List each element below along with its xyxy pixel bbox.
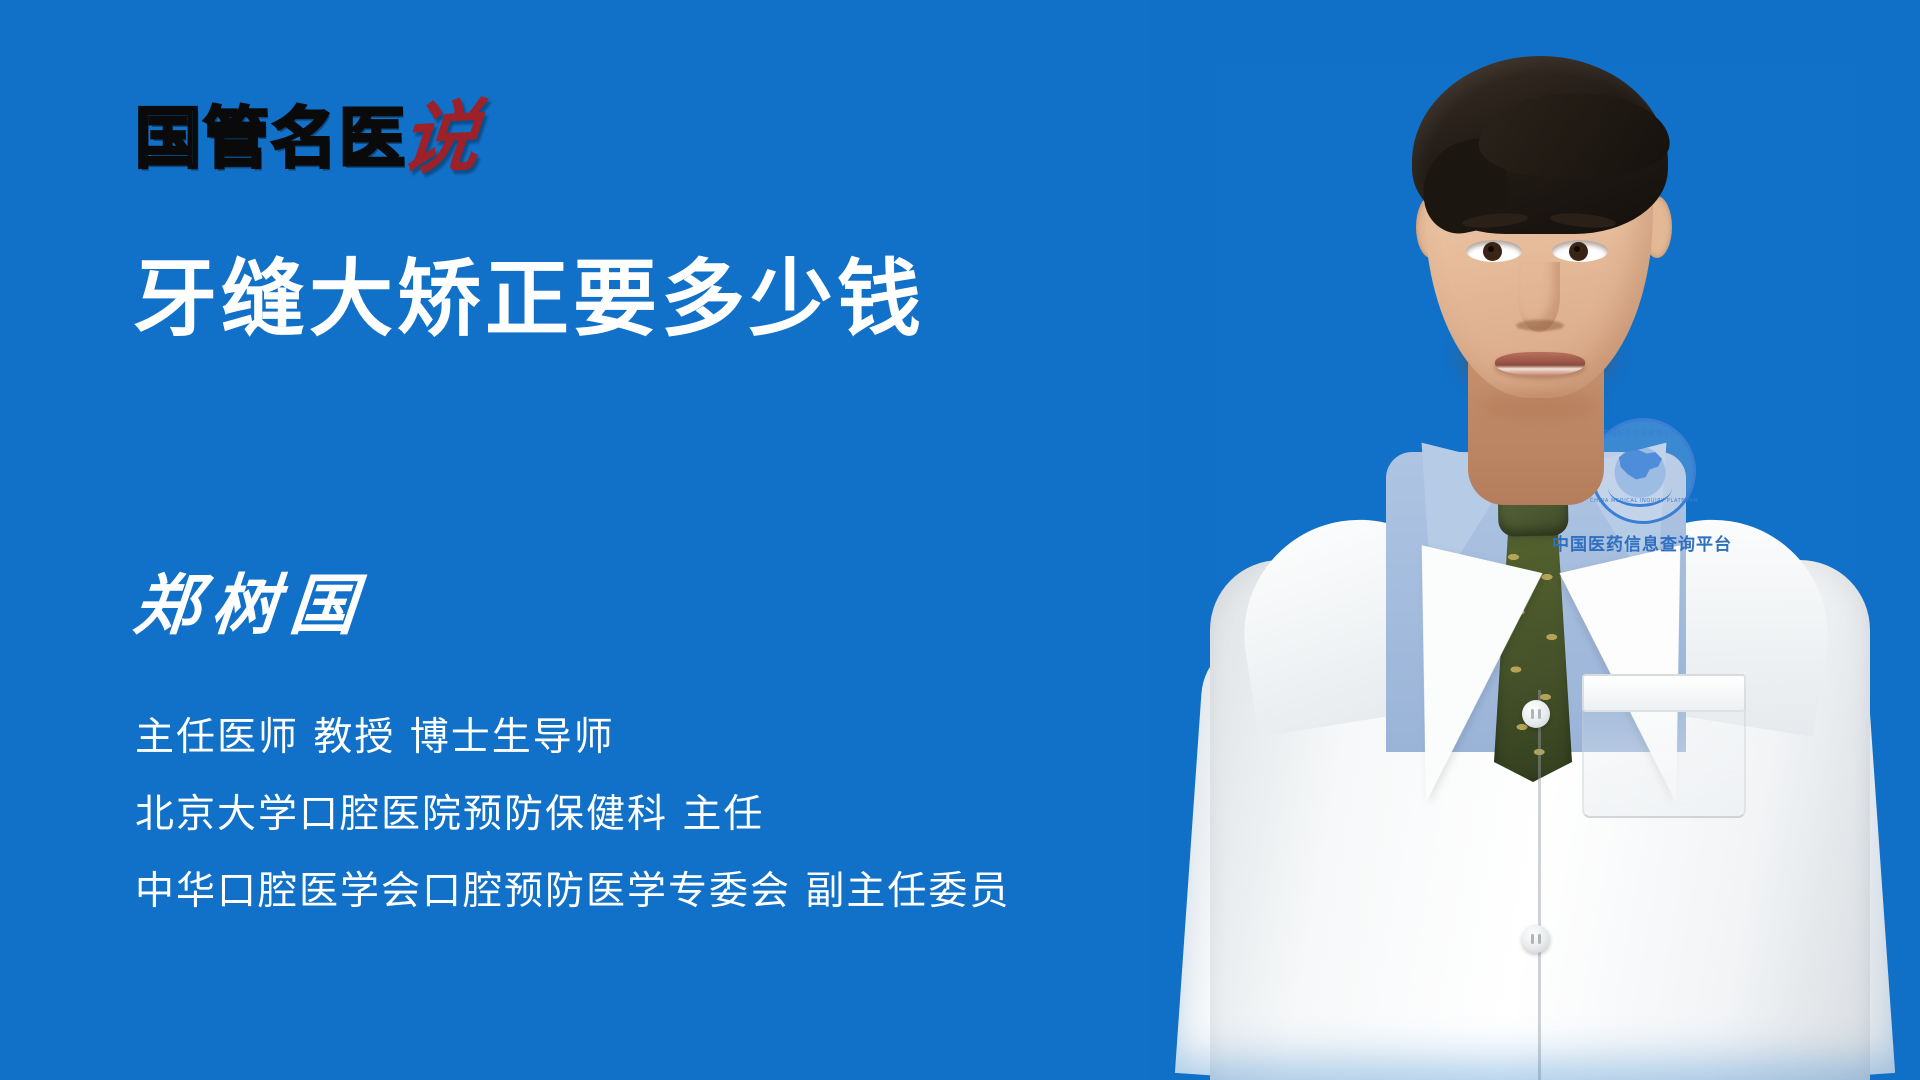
video-cover-slide: 国管名医 说 牙缝大矫正要多少钱 郑树国 主任医师 教授 博士生导师 北京大学口… (0, 0, 1920, 1080)
emblem-ring-text-top: 中国医药信息查询平台 (1590, 428, 1690, 438)
doctor-portrait: 中国医药信息查询平台 CHINA MEDICAL INQUIRY PLATFOR… (1150, 0, 1920, 1080)
chin-shadow (1480, 392, 1598, 422)
credential-line-2: 北京大学口腔医院预防保健科 主任 (135, 795, 1010, 836)
eye-right (1552, 240, 1608, 262)
credential-line-3: 中华口腔医学会口腔预防医学专委会 副主任委员 (135, 872, 1010, 913)
doctor-name: 郑树国 (131, 572, 371, 638)
pupil-left (1483, 242, 1502, 261)
coat-button-2 (1522, 925, 1550, 953)
coat-front-seam (1538, 690, 1541, 1080)
nostrils (1516, 320, 1564, 331)
brand-logo-main-text: 国管名医 (135, 106, 407, 172)
coat-chest-pocket (1582, 676, 1746, 818)
mouth (1495, 352, 1585, 376)
emblem-ring-text-bottom: CHINA MEDICAL INQUIRY PLATFORM (1590, 498, 1690, 504)
coat-badge-caption: 中国医药信息查询平台 (1552, 530, 1732, 555)
credential-line-1: 主任医师 教授 博士生导师 (135, 718, 1010, 759)
brand-logo: 国管名医 说 (135, 100, 479, 172)
doctor-credentials: 主任医师 教授 博士生导师 北京大学口腔医院预防保健科 主任 中华口腔医学会口腔… (135, 718, 1010, 913)
eye-left (1466, 240, 1522, 262)
page-title: 牙缝大矫正要多少钱 (133, 252, 925, 346)
brand-logo-accent-text: 说 (397, 98, 482, 180)
coat-button-1 (1522, 700, 1550, 728)
pupil-right (1569, 242, 1588, 261)
